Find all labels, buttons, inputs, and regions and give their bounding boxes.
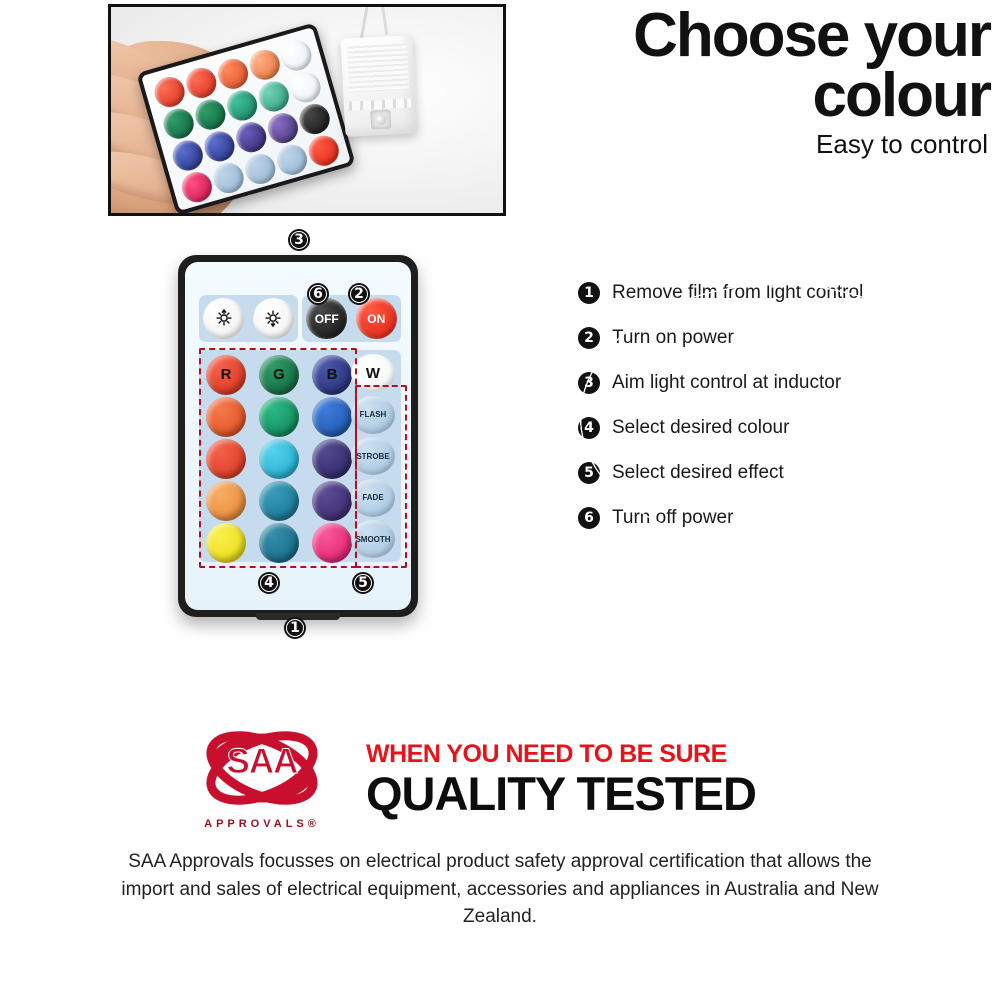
photo-remote-button xyxy=(160,105,197,142)
controller-wire xyxy=(360,4,369,39)
sun-up-icon xyxy=(213,308,235,330)
photo-remote-button xyxy=(178,169,215,206)
headline-line-2: colour xyxy=(548,66,1000,126)
controller-terminals xyxy=(349,98,411,110)
headline-line-1: Choose your xyxy=(548,6,1000,66)
photo-remote-button xyxy=(214,55,251,92)
colour-highlight-box xyxy=(199,348,357,568)
saa-quality-block: SAA APPROVALS® WHEN YOU NEED TO BE SURE … xyxy=(196,722,816,834)
photo-remote-button xyxy=(151,73,188,110)
marker-1: 1 xyxy=(284,617,306,639)
controller-box xyxy=(340,35,417,137)
photo-remote-button xyxy=(246,46,283,83)
list-item: 6 Turn off power xyxy=(578,507,978,529)
quality-tagline-black: QUALITY TESTED xyxy=(366,770,756,817)
marker-2: 2 xyxy=(348,283,370,305)
instruction-list: 1 Remove film from light control 2 Turn … xyxy=(578,282,978,552)
photo-remote-button xyxy=(242,150,279,187)
headline-subtitle: Easy to control xyxy=(548,129,1000,160)
brightness-pad xyxy=(199,295,298,342)
effect-highlight-box xyxy=(355,385,407,568)
remote-top-row: OFF ON xyxy=(199,295,401,342)
saa-logo: SAA APPROVALS® xyxy=(196,722,328,834)
controller-label xyxy=(347,43,409,92)
photo-background xyxy=(111,7,503,213)
photo-remote-off-button xyxy=(296,101,333,138)
brightness-down-button[interactable] xyxy=(253,298,294,339)
photo-remote-button xyxy=(169,137,206,174)
photo-remote-button xyxy=(278,37,315,74)
photo-remote-button xyxy=(264,110,301,147)
photo-remote-button xyxy=(224,87,261,124)
marker-6: 6 xyxy=(307,283,329,305)
marker-3: 3 xyxy=(288,229,310,251)
brightness-up-button[interactable] xyxy=(203,298,244,339)
off-button[interactable]: OFF xyxy=(306,298,347,339)
page-root: Choose your colour Easy to control xyxy=(0,0,1000,1000)
saa-logo-word: SAA xyxy=(196,742,328,782)
saa-logo-subtitle: APPROVALS® xyxy=(196,818,328,830)
photo-remote-button-grid xyxy=(151,37,341,201)
saa-description-paragraph: SAA Approvals focusses on electrical pro… xyxy=(110,848,890,931)
remote-face: OFF ON R G B xyxy=(185,262,411,610)
step-marker-1: 1 xyxy=(578,282,600,304)
marker-4: 4 xyxy=(258,572,280,594)
controller-wire xyxy=(381,4,388,35)
photo-remote-button xyxy=(287,69,324,106)
remote-body: OFF ON R G B xyxy=(178,255,418,617)
quality-tagline-block: WHEN YOU NEED TO BE SURE QUALITY TESTED xyxy=(366,740,756,817)
photo-remote-on-button xyxy=(305,132,342,169)
hero-photo xyxy=(108,4,506,216)
controller-ir-receiver xyxy=(370,109,391,129)
quality-tagline-red: WHEN YOU NEED TO BE SURE xyxy=(366,740,756,769)
step-marker-6: 6 xyxy=(578,507,600,529)
marker-5: 5 xyxy=(352,572,374,594)
remote-diagram: OFF ON R G B xyxy=(178,255,418,623)
sun-down-icon xyxy=(262,308,284,330)
photo-remote-button xyxy=(255,78,292,115)
photo-remote-button xyxy=(183,64,220,101)
headline-block: Choose your colour Easy to control xyxy=(548,6,1000,160)
step-marker-2: 2 xyxy=(578,327,600,349)
photo-remote-button xyxy=(201,128,238,165)
photo-remote-button xyxy=(274,141,311,178)
photo-remote-button xyxy=(192,96,229,133)
photo-remote-button xyxy=(233,119,270,156)
photo-remote-button xyxy=(210,160,247,197)
